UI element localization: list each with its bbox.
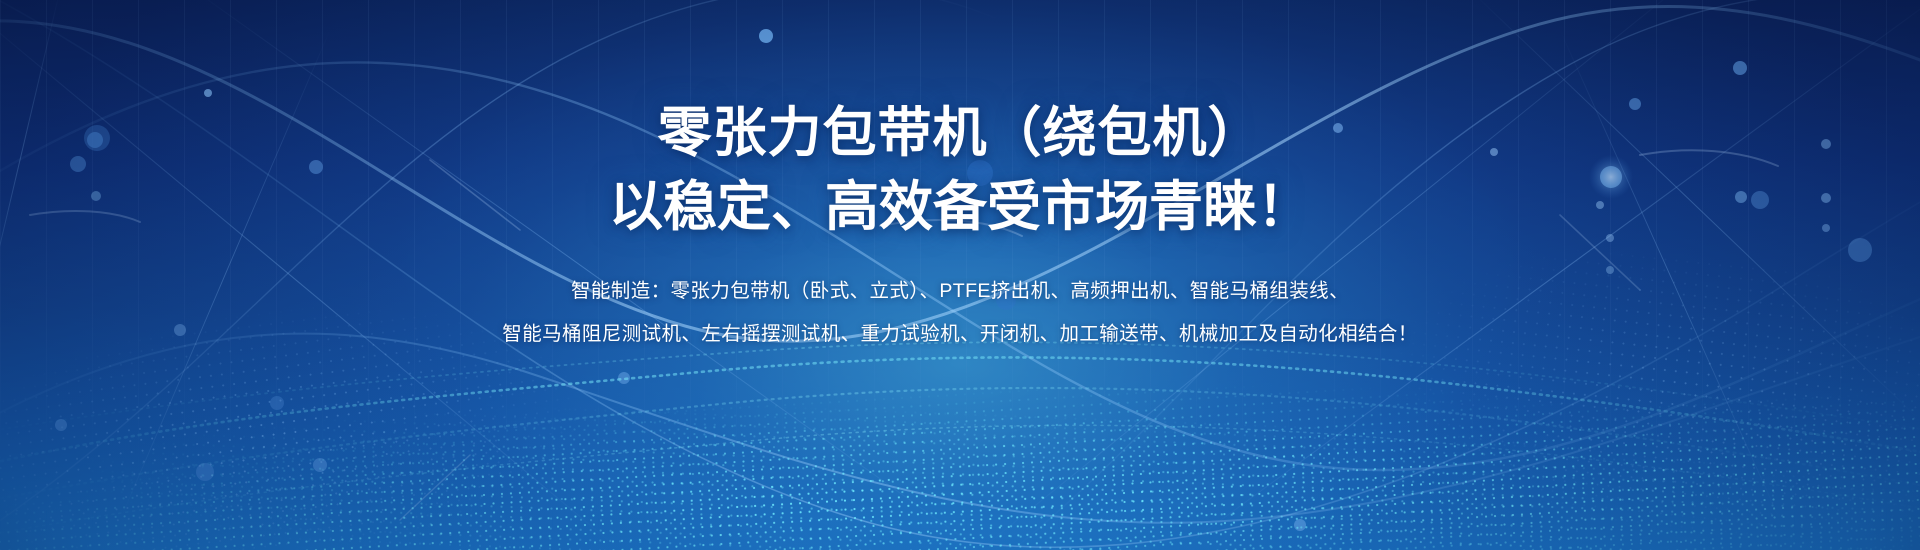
subtitle-line-2: 智能马桶阻尼测试机、左右摇摆测试机、重力试验机、开闭机、加工输送带、机械加工及自… (502, 313, 1417, 356)
headline: 零张力包带机（绕包机） 以稳定、高效备受市场青睐！ (609, 96, 1311, 244)
hero-banner: 零张力包带机（绕包机） 以稳定、高效备受市场青睐！ 智能制造：零张力包带机（卧式… (0, 0, 1920, 550)
subtitle: 智能制造：零张力包带机（卧式、立式）、PTFE挤出机、高频押出机、智能马桶组装线… (502, 270, 1417, 356)
headline-line-1: 零张力包带机（绕包机） (609, 96, 1311, 170)
subtitle-line-1: 智能制造：零张力包带机（卧式、立式）、PTFE挤出机、高频押出机、智能马桶组装线… (502, 270, 1417, 313)
headline-line-2: 以稳定、高效备受市场青睐！ (609, 170, 1311, 244)
banner-content: 零张力包带机（绕包机） 以稳定、高效备受市场青睐！ 智能制造：零张力包带机（卧式… (0, 0, 1920, 550)
